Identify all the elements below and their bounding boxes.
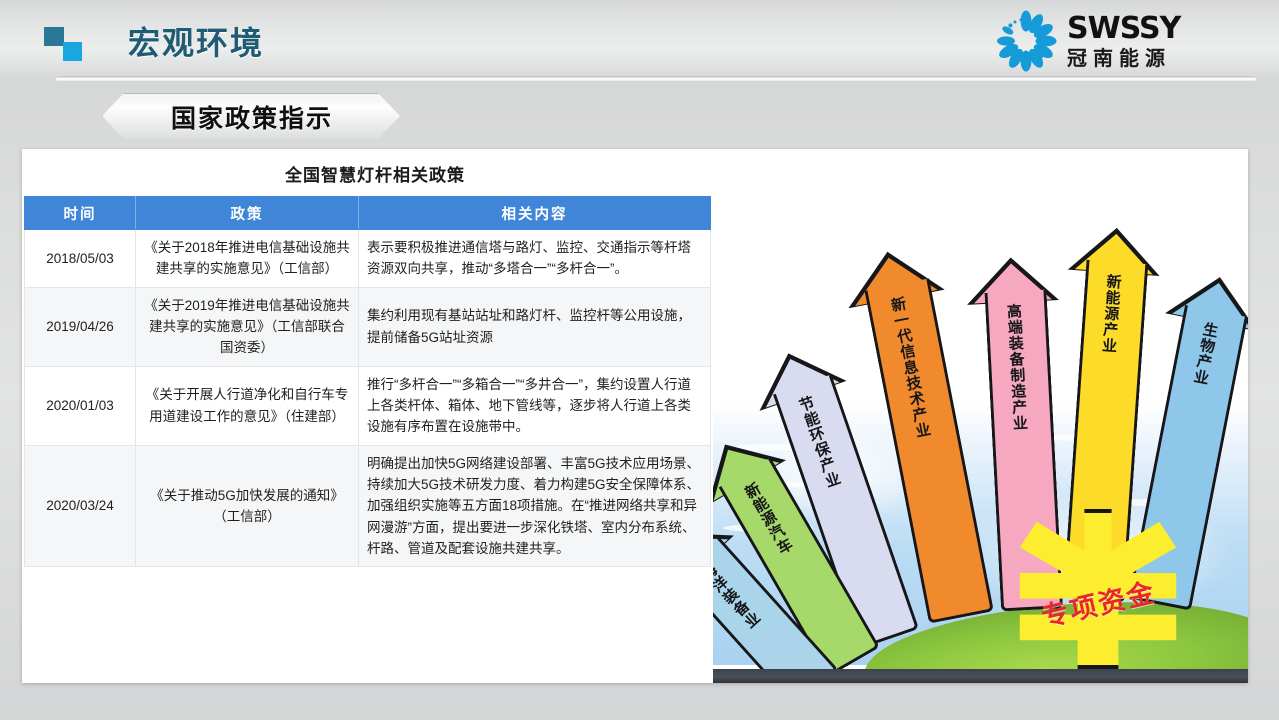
brand-logo: SWSSY 冠南能源 (995, 6, 1257, 74)
policy-table: 时间 政策 相关内容 2018/05/03 《关于2018年推进电信基础设施共建… (24, 196, 711, 567)
column-header-time: 时间 (25, 197, 136, 230)
column-header-content: 相关内容 (359, 197, 711, 230)
cell-content: 表示要积极推进通信塔与路灯、监控、交通指示等杆塔资源双向共享，推动“多塔合一”“… (359, 230, 711, 288)
brand-chinese-name: 冠南能源 (1067, 48, 1180, 70)
special-fund-yuan-icon: 专项资金 (1013, 509, 1183, 669)
cell-policy: 《关于推动5G加快发展的通知》（工信部） (136, 445, 359, 567)
square-light-icon (63, 42, 82, 61)
slide-header: 宏观环境 (0, 0, 1279, 80)
table-row: 2019/04/26 《关于2019年推进电信基础设施共建共享的实施意见》（工信… (25, 287, 711, 366)
slide-root: 宏观环境 (0, 0, 1279, 720)
section-banner: 国家政策指示 (102, 93, 402, 141)
cell-policy: 《关于2019年推进电信基础设施共建共享的实施意见》（工信部联合国资委） (136, 287, 359, 366)
table-header-row: 时间 政策 相关内容 (25, 197, 711, 230)
cell-policy: 《关于2018年推进电信基础设施共建共享的实施意见》（工信部） (136, 230, 359, 288)
water-droplet-petals-icon (995, 10, 1057, 70)
policy-table-block: 全国智慧灯杆相关政策 时间 政策 相关内容 2018/05/03 《关于2018… (22, 149, 728, 567)
cell-date: 2018/05/03 (25, 230, 136, 288)
table-row: 2020/01/03 《关于开展人行道净化和自行车专用道建设工作的意见》（住建部… (25, 366, 711, 445)
page-title: 宏观环境 (128, 18, 264, 64)
cell-content: 集约利用现有基站站址和路灯杆、监控杆等公用设施，提前储备5G站址资源 (359, 287, 711, 366)
cell-content: 明确提出加快5G网络建设部署、丰富5G技术应用场景、持续加大5G技术研发力度、着… (359, 445, 711, 567)
cell-content: 推行“多杆合一”“多箱合一”“多井合一”，集约设置人行道上各类杆体、箱体、地下管… (359, 366, 711, 445)
cell-policy: 《关于开展人行道净化和自行车专用道建设工作的意见》（住建部） (136, 366, 359, 445)
section-banner-label: 国家政策指示 (171, 99, 333, 135)
content-card: 全国智慧灯杆相关政策 时间 政策 相关内容 2018/05/03 《关于2018… (22, 149, 1248, 683)
brand-name: SWSSY (1067, 14, 1180, 44)
cell-date: 2020/01/03 (25, 366, 136, 445)
decorative-squares-icon (44, 27, 88, 61)
header-divider (56, 76, 1256, 82)
illustration-footer-bar (713, 669, 1248, 683)
cell-date: 2019/04/26 (25, 287, 136, 366)
column-header-policy: 政策 (136, 197, 359, 230)
table-row: 2018/05/03 《关于2018年推进电信基础设施共建共享的实施意见》（工信… (25, 230, 711, 288)
industry-arrows-illustration: 生物产业 新能源产业 高端装备制造产业 新一代信息技术产业 (713, 149, 1248, 683)
brand-text: SWSSY 冠南能源 (1067, 14, 1180, 70)
cell-date: 2020/03/24 (25, 445, 136, 567)
table-title: 全国智慧灯杆相关政策 (22, 149, 728, 196)
table-row: 2020/03/24 《关于推动5G加快发展的通知》（工信部） 明确提出加快5G… (25, 445, 711, 567)
square-dark-icon (44, 27, 64, 46)
